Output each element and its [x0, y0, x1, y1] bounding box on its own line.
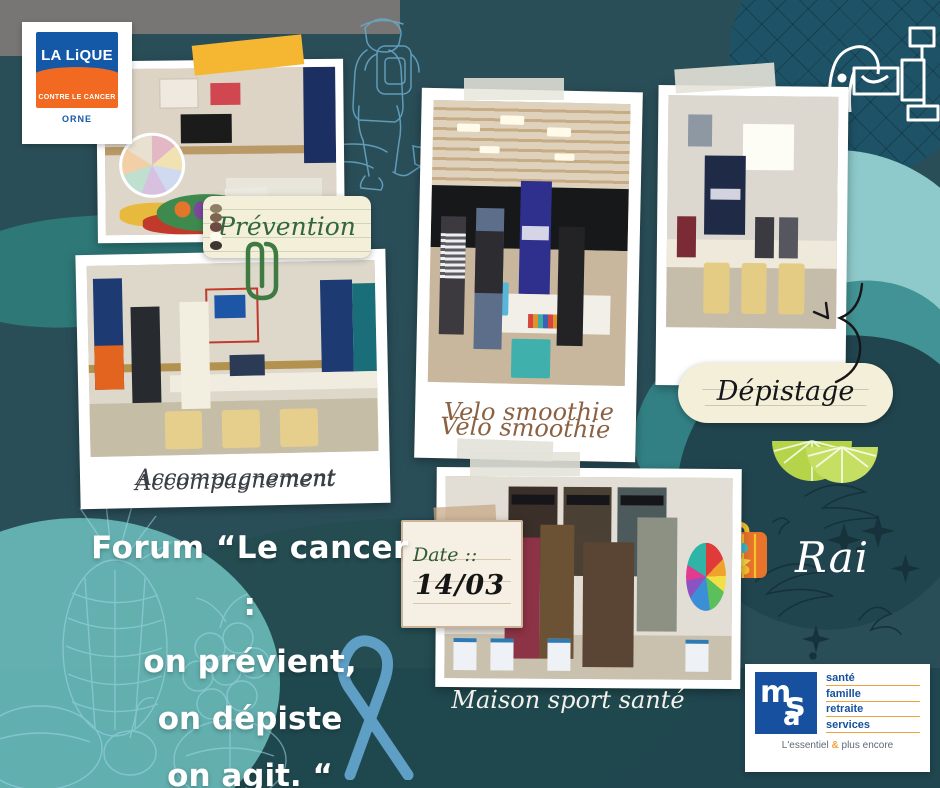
title-line-3: on dépiste: [85, 691, 415, 748]
msa-tagline-after: plus encore: [839, 740, 893, 751]
label-depistage-text: Dépistage: [678, 363, 893, 421]
msa-service-words: santé famille retraite services: [826, 672, 920, 734]
msa-word-1: famille: [826, 688, 920, 702]
photo-caption-maison-sport-sante: Maison sport santé: [418, 686, 718, 714]
ligue-logo-department: ORNE: [62, 114, 92, 124]
label-depistage: Dépistage: [678, 363, 893, 423]
white-tape-decoration-3: [470, 452, 580, 476]
notepad-holes: [210, 204, 224, 250]
msa-word-2: retraite: [826, 703, 920, 717]
msa-word-3: services: [826, 719, 920, 733]
photo-caption-velo-smoothie: Velo smoothie: [420, 398, 638, 426]
msa-logo: m s a santé famille retraite services L'…: [745, 664, 930, 772]
msa-tagline-amp: &: [832, 740, 839, 751]
ligue-logo-line1: LA LiQUE: [36, 47, 118, 64]
msa-monogram: m s a: [755, 672, 817, 734]
label-prevention-text: Prévention: [203, 196, 371, 258]
poster-canvas: Velo smoothie: [0, 0, 940, 788]
label-prevention: Prévention: [203, 196, 371, 258]
date-card-value: 14/03: [415, 570, 505, 601]
title-line-4: on agit. “: [85, 748, 415, 788]
photo-depistage: [655, 85, 848, 387]
msa-word-0: santé: [826, 672, 920, 686]
page-title: Forum “Le cancer : on prévient, on dépis…: [85, 520, 415, 788]
msa-tagline-before: L'essentiel: [782, 740, 832, 751]
date-card-label: Date ::: [413, 544, 513, 566]
ligue-contre-le-cancer-logo: LA LiQUE CONTRE LE CANCER ORNE: [22, 22, 132, 144]
date-card: Date :: 14/03: [401, 520, 523, 628]
ligue-logo-line2: CONTRE LE CANCER: [36, 94, 118, 101]
paperclip-icon: [232, 236, 286, 302]
title-line-1: Forum “Le cancer :: [85, 520, 415, 634]
msa-tagline: L'essentiel & plus encore: [755, 740, 920, 751]
script-word-rai: Rai: [795, 533, 869, 582]
title-line-2: on prévient,: [85, 634, 415, 691]
white-tape-decoration: [464, 78, 564, 100]
photo-caption-accompagnement-outer: Accompagnement: [86, 466, 386, 491]
ligue-badge: LA LiQUE CONTRE LE CANCER: [36, 32, 118, 108]
